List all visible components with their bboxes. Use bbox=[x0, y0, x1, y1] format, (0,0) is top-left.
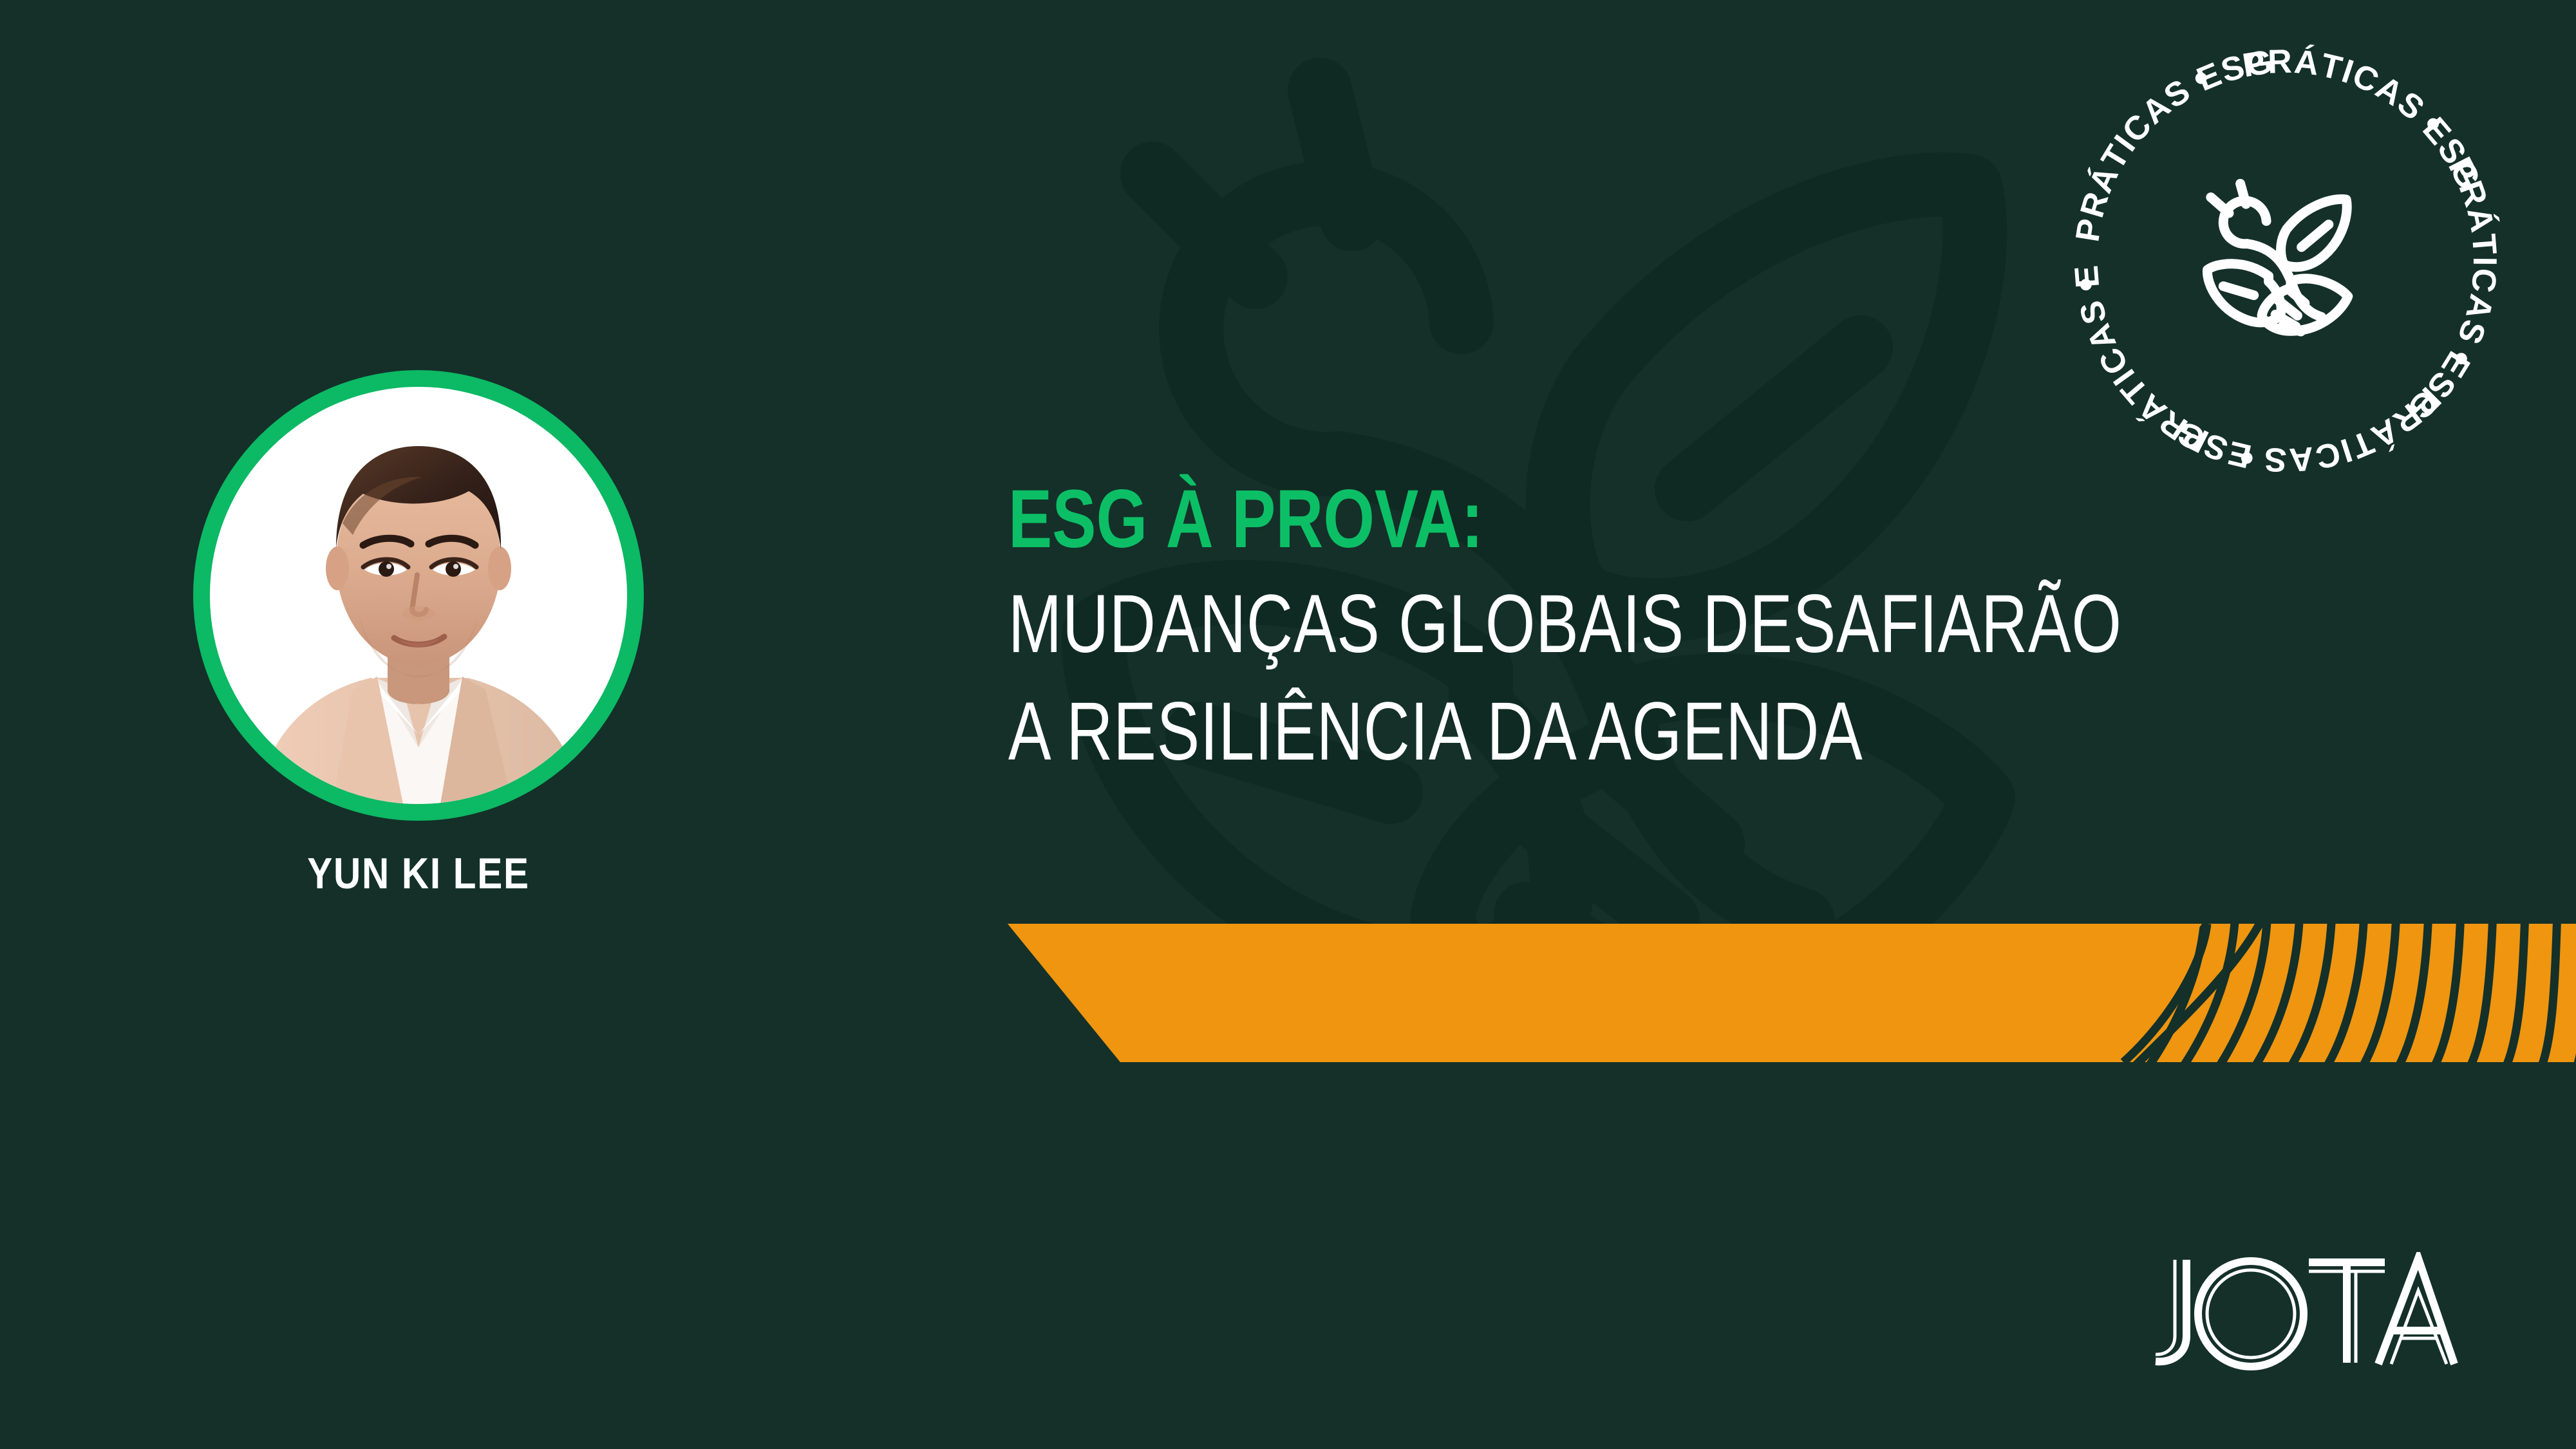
speaker-photo bbox=[210, 387, 627, 804]
poster-canvas: YUN KI LEE ESG À PROVA: MUDANÇAS GLOBAIS… bbox=[0, 0, 2576, 1449]
speaker-block: YUN KI LEE bbox=[193, 370, 644, 1091]
speaker-name: YUN KI LEE bbox=[225, 848, 612, 899]
headline-subtitle-line-2: A RESILIÊNCIA DA AGENDA bbox=[1008, 678, 2163, 785]
portrait-ring bbox=[193, 370, 644, 821]
orange-striped-band bbox=[1004, 924, 2576, 1062]
headline-title: ESG À PROVA: bbox=[1008, 476, 2193, 562]
leaf-dna-icon bbox=[2207, 183, 2347, 332]
portrait-frame bbox=[210, 387, 627, 804]
headline-subtitle-line-1: MUDANÇAS GLOBAIS DESAFIARÃO bbox=[1008, 571, 2163, 678]
headline-block: ESG À PROVA: MUDANÇAS GLOBAIS DESAFIARÃO… bbox=[1008, 476, 2489, 785]
jota-logo[interactable]: JOTA bbox=[2125, 1252, 2459, 1374]
praticas-esg-badge[interactable]: PRÁTICAS ESG • PRÁTICAS ESG • PRÁTICAS E… bbox=[2047, 23, 2524, 499]
